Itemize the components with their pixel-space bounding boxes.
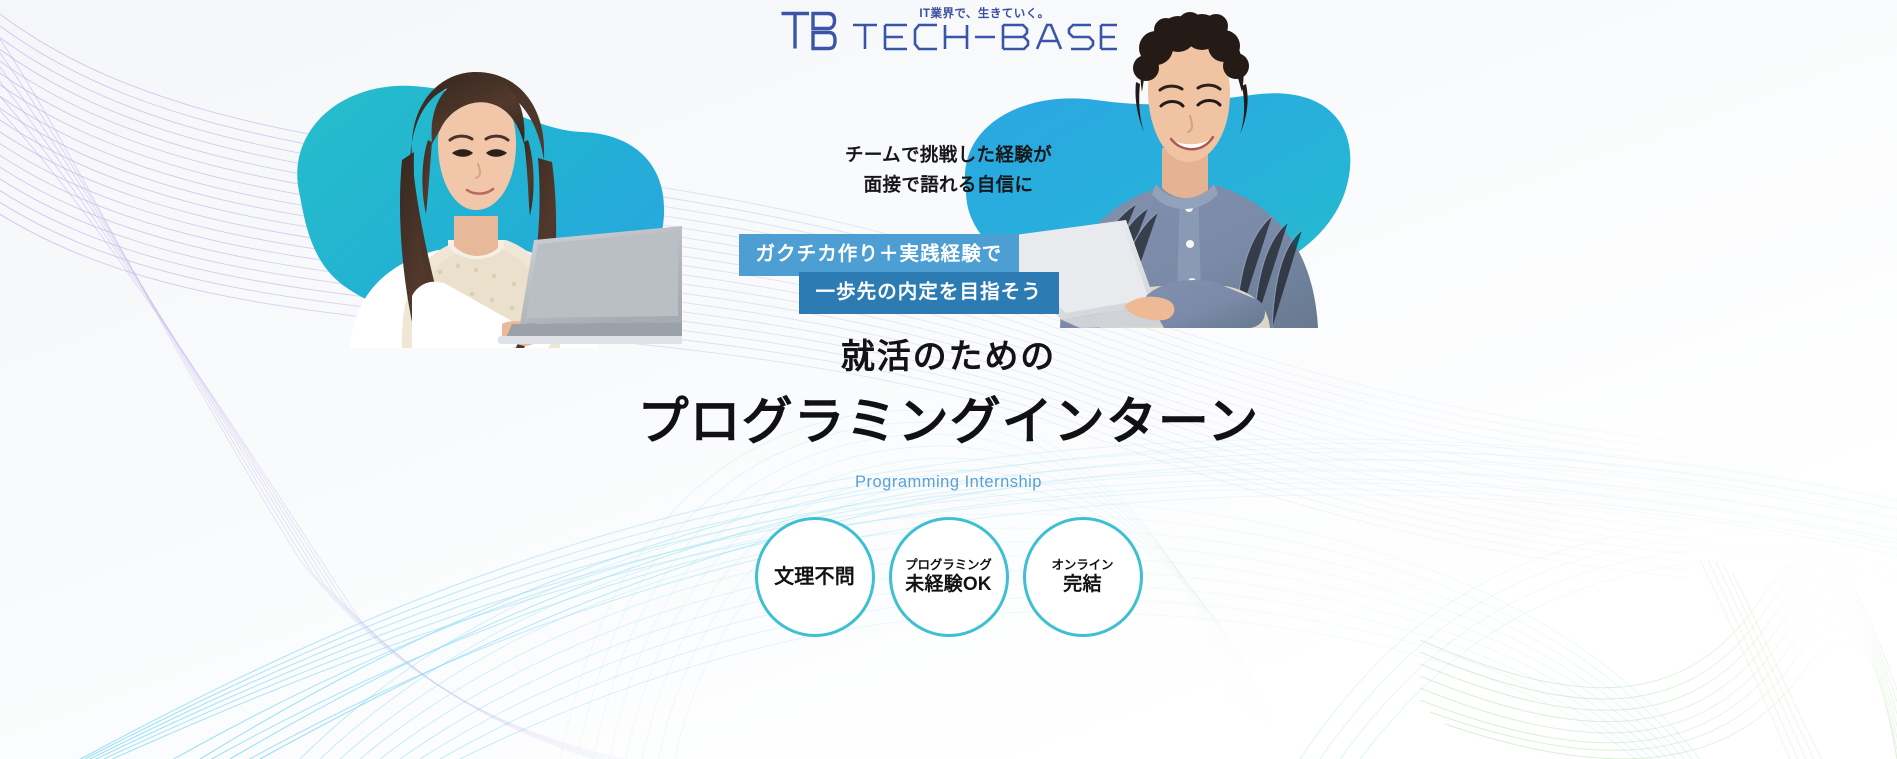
badge-label-main: 完結 <box>1063 573 1101 596</box>
site-logo[interactable]: IT業界で、生きていく。 <box>779 8 1119 52</box>
badge-programming-beginner-ok[interactable]: プログラミング 未経験OK <box>889 517 1009 637</box>
badge-label-main: 未経験OK <box>905 573 991 596</box>
wave-green-bottom-right <box>1420 555 1897 759</box>
badge-label-sub: プログラミング <box>905 558 992 573</box>
badge-label-sub: オンライン <box>1052 558 1114 573</box>
badge-bunri-fumon[interactable]: 文理不問 <box>755 517 875 637</box>
hero-title-small: 就活のための <box>841 340 1056 374</box>
wave-cyan-right-mesh <box>1300 523 1897 759</box>
wave-green-spike <box>1700 560 1822 759</box>
badge-label-main: 文理不問 <box>774 565 855 589</box>
badge-online-complete[interactable]: オンライン 完結 <box>1023 517 1143 637</box>
logo-wordmark <box>851 22 1119 52</box>
hero-subtitle-english: Programming Internship <box>855 474 1042 491</box>
logo-tagline: IT業界で、生きていく。 <box>919 8 1049 21</box>
feature-badges: 文理不問 プログラミング 未経験OK オンライン 完結 <box>755 517 1143 637</box>
tb-logo-mark <box>779 10 837 52</box>
photo-student-left <box>262 48 682 348</box>
hero-page: IT業界で、生きていく。 <box>0 0 1897 759</box>
wave-purple-top-left <box>0 0 1690 578</box>
photo-student-right <box>950 8 1390 328</box>
hero-title-large: プログラミングインターン <box>638 396 1260 447</box>
